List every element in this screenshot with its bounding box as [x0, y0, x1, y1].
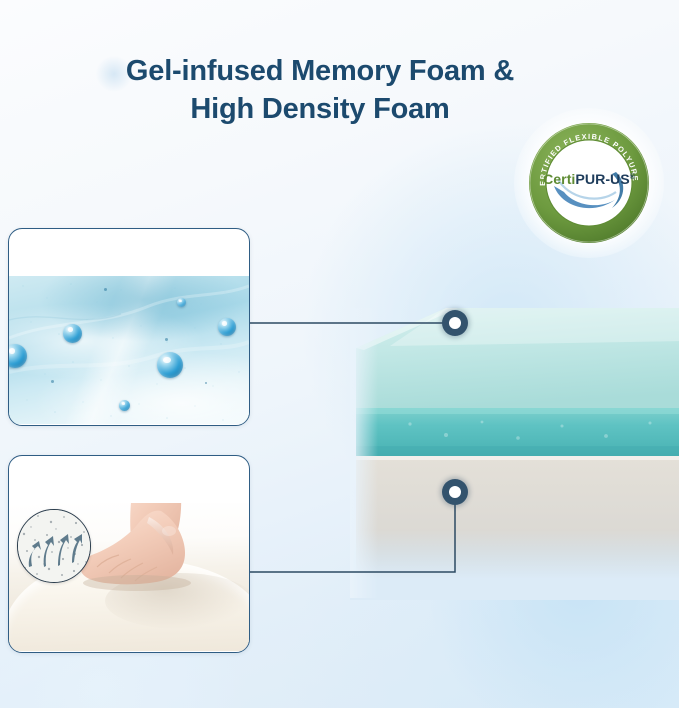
airflow-arrows: [18, 510, 90, 582]
mattress-left-fade: [350, 308, 378, 598]
gel-speck: [205, 382, 207, 384]
badge-wordmark-certi: Certi: [543, 172, 575, 188]
ankle-highlight: [162, 526, 176, 536]
foam-mattress-illustration: [350, 300, 679, 600]
gel-speck: [51, 380, 54, 383]
airflow-arrow: [44, 536, 54, 567]
page-title-line-2: High Density Foam: [60, 90, 580, 128]
badge-wordmark-purus: PUR-US: [575, 172, 629, 188]
gel-bead: [63, 324, 82, 343]
marker-core: [449, 486, 461, 498]
airflow-arrow: [29, 541, 41, 567]
callout-card-stable-support[interactable]: Stable support and open cell: [8, 455, 250, 653]
badge-wordmark: CertiPUR-US®: [543, 172, 636, 188]
gel-bead: [157, 352, 183, 378]
callout-photo-high-density-foam: [9, 503, 249, 651]
badge-artwork: CONTAINS CERTIFIED FLEXIBLE POLYURETHANE…: [528, 122, 650, 244]
infographic-canvas: Gel-infused Memory Foam & High Density F…: [0, 0, 679, 708]
high-density-layer-top-edge: [356, 456, 679, 460]
marker-core: [449, 317, 461, 329]
gel-bead: [177, 298, 186, 307]
foot-contact-shadow: [83, 575, 191, 591]
mattress-bottom-fade: [350, 530, 679, 600]
gel-layer-side-shadow: [356, 446, 679, 456]
gel-foam-layer-marker[interactable]: [440, 308, 470, 338]
page-title-line-1: Gel-infused Memory Foam &: [60, 52, 580, 90]
page-title: Gel-infused Memory Foam & High Density F…: [60, 52, 580, 129]
gel-speck: [104, 288, 107, 291]
callout-title-quick-rebound: Quick rebound and keep cool: [9, 229, 249, 276]
gel-layer-side-top-edge: [356, 408, 679, 414]
gel-speck: [165, 338, 168, 341]
certipur-us-badge: CONTAINS CERTIFIED FLEXIBLE POLYURETHANE…: [528, 122, 650, 244]
high-density-foam-layer-marker[interactable]: [440, 477, 470, 507]
callout-title-stable-support: Stable support and open cell: [9, 456, 249, 503]
airflow-arrow: [58, 534, 69, 566]
callout-card-quick-rebound[interactable]: Quick rebound and keep cool: [8, 228, 250, 426]
gel-bead: [218, 318, 236, 336]
open-cell-magnifier-inset: [17, 509, 91, 583]
gel-bead: [119, 400, 130, 411]
callout-photo-gel-foam: [9, 276, 249, 424]
airflow-arrow: [72, 534, 82, 563]
